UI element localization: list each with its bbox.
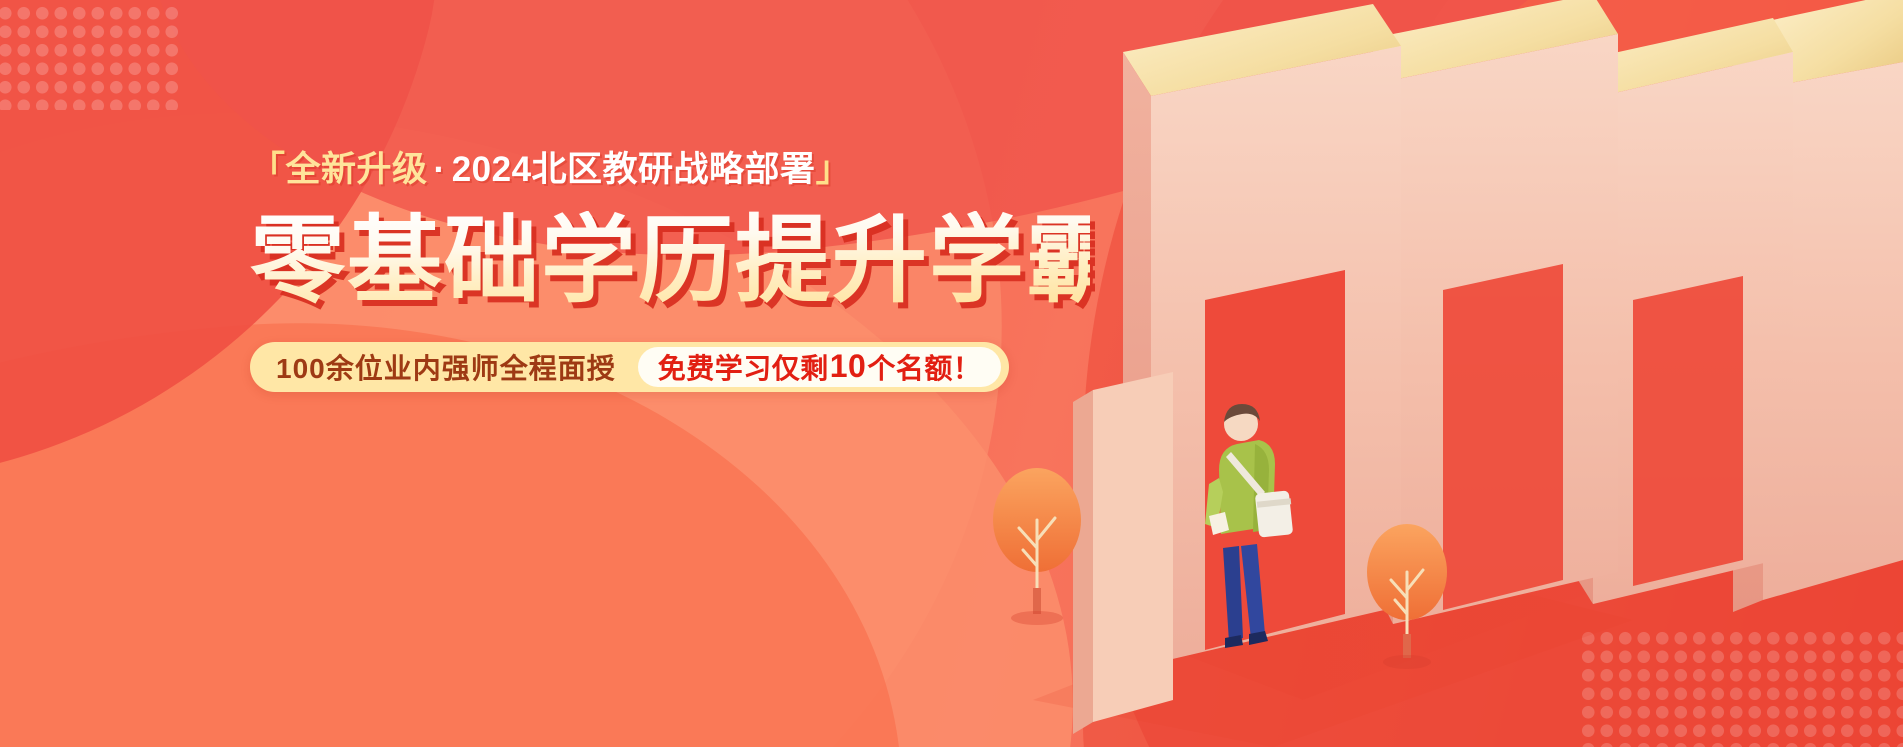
pill-right-prefix: 免费学习仅剩: [658, 347, 829, 387]
kicker-separator: ·: [428, 150, 452, 189]
pill-right-suffix: 个名额！: [867, 347, 981, 387]
dot-grid-top-left-icon: [0, 4, 178, 110]
banner-pill-row: 100余位业内强师全程面授 免费学习仅剩10个名额！: [250, 342, 1009, 392]
pill-right-badge[interactable]: 免费学习仅剩10个名额！: [638, 347, 1002, 387]
banner-headline: 零基础学历提升学霸班: [250, 211, 1090, 312]
dot-grid-bottom-right-icon: [1579, 629, 1903, 747]
banner-copy: 「全新升级·2024北区教研战略部署」 零基础学历提升学霸班 100余位业内强师…: [250, 152, 1090, 392]
kicker-rest: 2024北区教研战略部署: [452, 150, 816, 189]
kicker-bracket-close: 」: [816, 150, 852, 189]
kicker-highlight: 全新升级: [286, 150, 428, 189]
pill-left-text: 100余位业内强师全程面授: [276, 347, 638, 387]
kicker-bracket-open: 「: [250, 150, 286, 189]
banner-kicker: 「全新升级·2024北区教研战略部署」: [250, 152, 1090, 187]
pill-right-number: 10: [829, 348, 868, 385]
promo-banner: 「全新升级·2024北区教研战略部署」 零基础学历提升学霸班 100余位业内强师…: [0, 0, 1903, 747]
